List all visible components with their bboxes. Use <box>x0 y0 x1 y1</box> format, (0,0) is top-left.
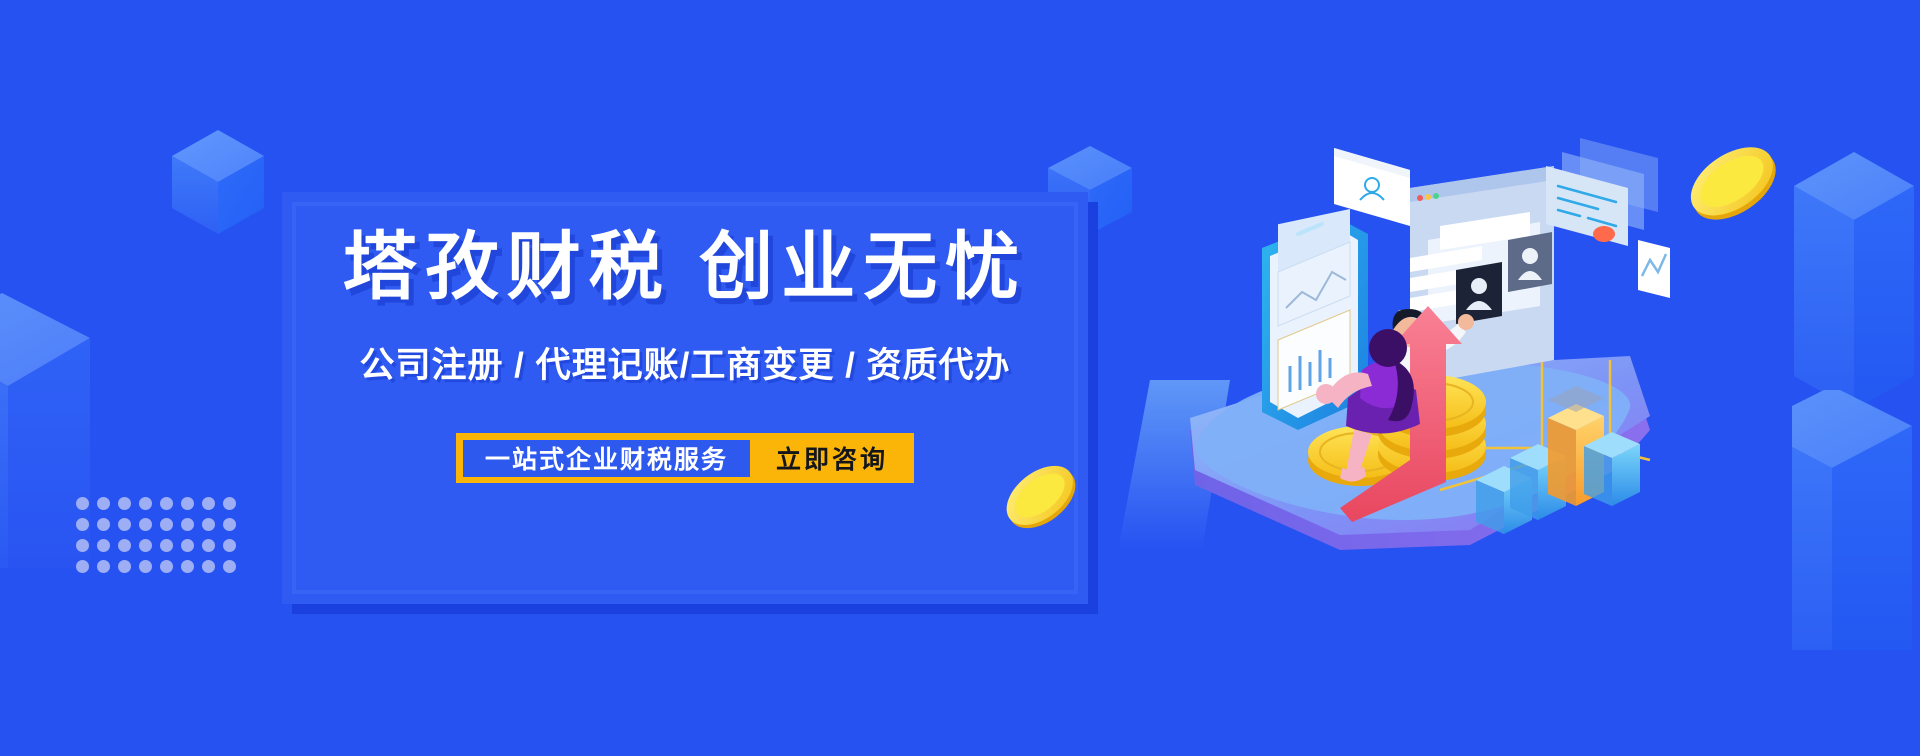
dot <box>160 539 173 552</box>
dot <box>181 560 194 573</box>
dot <box>118 497 131 510</box>
dot <box>160 518 173 531</box>
panel-content: 塔孜财税 创业无忧 公司注册 / 代理记账/工商变更 / 资质代办 一站式企业财… <box>282 192 1088 604</box>
dot <box>97 539 110 552</box>
promo-banner: 塔孜财税 创业无忧 公司注册 / 代理记账/工商变更 / 资质代办 一站式企业财… <box>0 0 1920 756</box>
dot <box>139 518 152 531</box>
dot <box>97 518 110 531</box>
isometric-business-illustration <box>1110 130 1670 560</box>
dot <box>118 560 131 573</box>
dot <box>97 497 110 510</box>
prism-right-upper-icon <box>1792 150 1920 410</box>
page-title: 塔孜财税 创业无忧 <box>343 230 1028 304</box>
dot <box>76 518 89 531</box>
prism-right-lower-icon <box>1792 390 1920 650</box>
cta-bar: 一站式企业财税服务 立即咨询 <box>456 433 914 483</box>
dot <box>139 497 152 510</box>
dot <box>202 539 215 552</box>
dot <box>118 539 131 552</box>
dot <box>76 560 89 573</box>
dot-grid-decor <box>76 497 244 581</box>
one-stop-service-badge[interactable]: 一站式企业财税服务 <box>463 440 750 477</box>
dot <box>202 497 215 510</box>
dot <box>202 560 215 573</box>
dot <box>118 518 131 531</box>
dot <box>223 497 236 510</box>
dot <box>139 539 152 552</box>
cube-top-left-icon <box>152 108 282 248</box>
dot <box>223 539 236 552</box>
dot <box>160 497 173 510</box>
service-list-subtitle: 公司注册 / 代理记账/工商变更 / 资质代办 <box>359 348 1010 383</box>
dot <box>97 560 110 573</box>
consult-now-button[interactable]: 立即咨询 <box>750 433 914 483</box>
dot <box>139 560 152 573</box>
dot <box>223 560 236 573</box>
dot <box>181 497 194 510</box>
dot <box>160 560 173 573</box>
dot <box>76 497 89 510</box>
dot <box>202 518 215 531</box>
dot <box>223 518 236 531</box>
dot <box>181 518 194 531</box>
dot <box>181 539 194 552</box>
coin-top-right-icon <box>1678 128 1788 238</box>
dot <box>76 539 89 552</box>
